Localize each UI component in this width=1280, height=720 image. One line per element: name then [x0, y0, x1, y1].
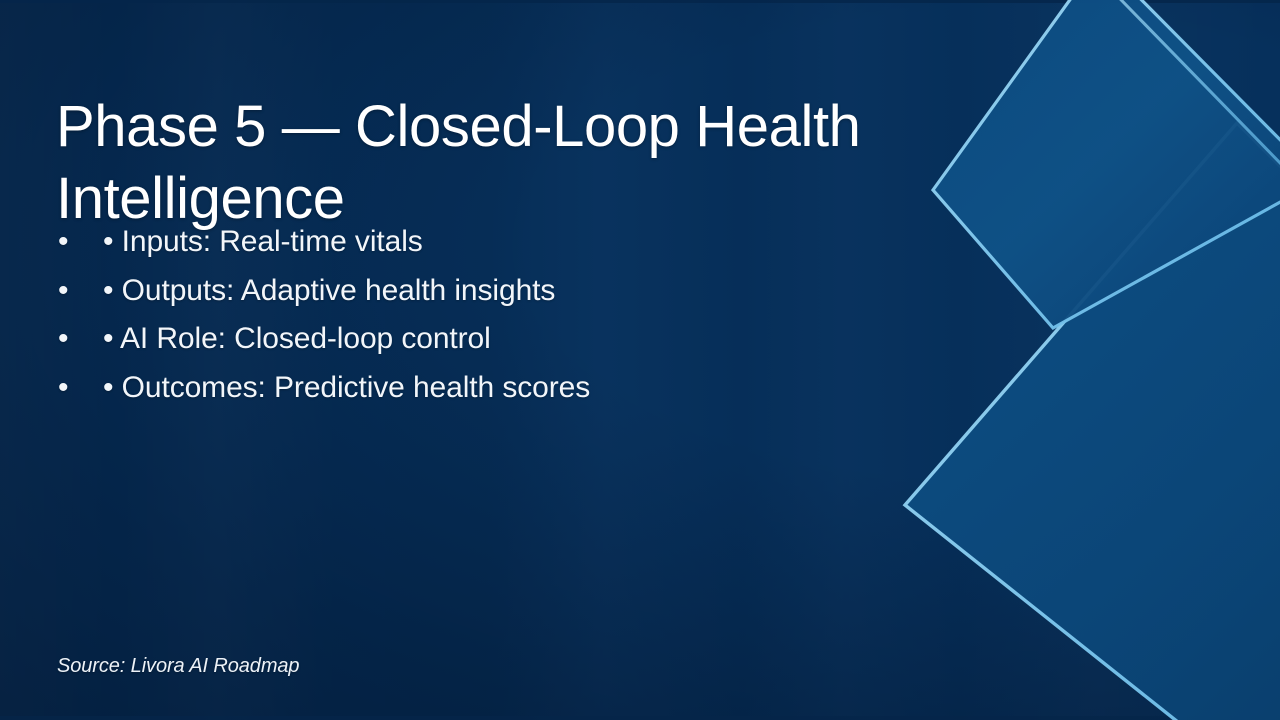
- list-item-label: • Outputs: Adaptive health insights: [103, 274, 555, 307]
- list-item-label: • Outcomes: Predictive health scores: [103, 371, 590, 404]
- page-title: Phase 5 — Closed-Loop Health Intelligenc…: [56, 91, 936, 235]
- slide-canvas: Phase 5 — Closed-Loop Health Intelligenc…: [0, 0, 1280, 720]
- list-item: • • Inputs: Real-time vitals: [56, 218, 916, 267]
- source-caption: Source: Livora AI Roadmap: [57, 652, 299, 680]
- bullet-list: • • Inputs: Real-time vitals • • Outputs…: [56, 218, 916, 412]
- bullet-marker-icon: •: [58, 218, 86, 267]
- list-item-label: • AI Role: Closed-loop control: [103, 322, 491, 355]
- bullet-marker-icon: •: [58, 364, 86, 413]
- bullet-marker-icon: •: [58, 315, 86, 364]
- slide-content: Phase 5 — Closed-Loop Health Intelligenc…: [0, 0, 1280, 720]
- list-item: • • Outputs: Adaptive health insights: [56, 267, 916, 316]
- list-item: • • AI Role: Closed-loop control: [56, 315, 916, 364]
- bullet-marker-icon: •: [58, 267, 86, 316]
- list-item-label: • Inputs: Real-time vitals: [103, 225, 423, 258]
- list-item: • • Outcomes: Predictive health scores: [56, 364, 916, 413]
